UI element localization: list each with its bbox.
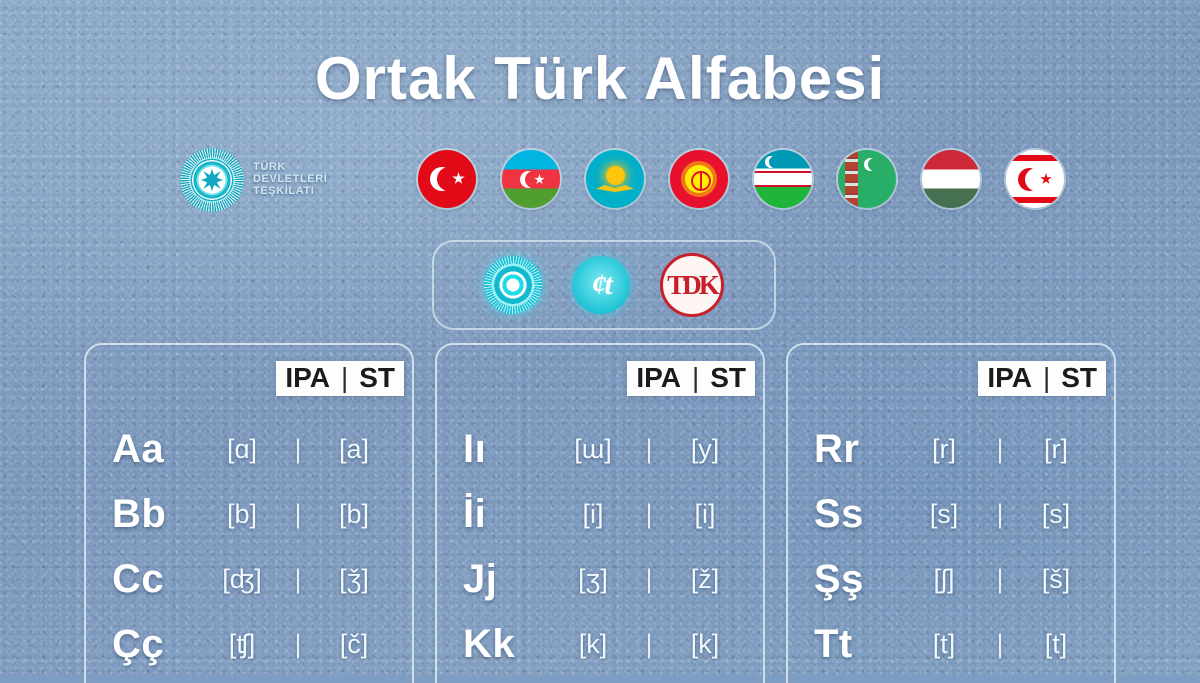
header-ipa-label: IPA [636, 364, 681, 392]
phonetic-cell: [i] | [i] [547, 499, 763, 530]
org-name-line-3: TEŞKİLATI [253, 186, 327, 198]
table-row[interactable]: Rr [r] | [r] [788, 417, 1114, 482]
ipa-value: [s] [898, 499, 990, 530]
crescent-icon [520, 171, 537, 188]
cell-separator: | [288, 434, 308, 465]
ipa-value: [ʃ] [898, 564, 990, 595]
st-value: [č] [308, 629, 400, 660]
sun-icon [606, 166, 625, 185]
st-value: [y] [659, 434, 751, 465]
alphabet-column-2: IPA | ST Iı [ɯ] | [y] İi [i] | [435, 343, 765, 683]
st-value: [s] [1010, 499, 1102, 530]
st-value: [b] [308, 499, 400, 530]
phonetic-cell: [ɯ] | [y] [547, 434, 763, 465]
flag-hungary[interactable] [922, 150, 980, 208]
table-row[interactable]: Kk [k] | [k] [437, 612, 763, 677]
header-ipa-label: IPA [285, 364, 330, 392]
page-title: Ortak Türk Alfabesi [0, 44, 1200, 113]
ipa-value: [ʤ] [196, 564, 288, 595]
organization-flag-row: TÜRK DEVLETLERİ TEŞKİLATI [0, 148, 1200, 224]
turkic-states-emblem-icon [180, 148, 244, 212]
eagle-icon [596, 185, 634, 192]
table-row[interactable]: Bb [b] | [b] [86, 482, 412, 547]
letter-cell: Şş [788, 557, 898, 602]
org-emblem-2-icon[interactable]: ȼt [572, 256, 630, 314]
flag-azerbaijan[interactable] [502, 150, 560, 208]
letter-cell: Ss [788, 492, 898, 537]
header-separator: | [692, 364, 699, 392]
cell-separator: | [639, 564, 659, 595]
table-row[interactable]: Jj [ʒ] | [ž] [437, 547, 763, 612]
table-row[interactable]: Çç [ʧ] | [č] [86, 612, 412, 677]
cell-separator: | [639, 499, 659, 530]
phonetic-cell: [ʃ] | [š] [898, 564, 1114, 595]
column-header-2: IPA | ST [627, 361, 755, 396]
phonetic-cell: [b] | [b] [196, 499, 412, 530]
letter-cell: Çç [86, 622, 196, 667]
ipa-value: [ʒ] [547, 564, 639, 595]
table-row[interactable]: İi [i] | [i] [437, 482, 763, 547]
ipa-value: [k] [547, 629, 639, 660]
phonetic-cell: [ʤ] | [ǯ] [196, 564, 412, 595]
letter-cell: Jj [437, 557, 547, 602]
column-header-1: IPA | ST [276, 361, 404, 396]
table-row[interactable]: Cc [ʤ] | [ǯ] [86, 547, 412, 612]
cell-separator: | [990, 434, 1010, 465]
letter-cell: Kk [437, 622, 547, 667]
ipa-value: [t] [898, 629, 990, 660]
table-row[interactable]: Şş [ʃ] | [š] [788, 547, 1114, 612]
ipa-value: [ɑ] [196, 434, 288, 465]
cell-separator: | [639, 629, 659, 660]
header-st-label: ST [359, 364, 395, 392]
column-2-rows: Iı [ɯ] | [y] İi [i] | [i] Jj [437, 417, 763, 677]
crescent-icon [430, 167, 454, 191]
letter-cell: Bb [86, 492, 196, 537]
org-emblem-3-glyph: TDK [667, 272, 717, 299]
letter-cell: Cc [86, 557, 196, 602]
alphabet-table: IPA | ST Aa [ɑ] | [a] Bb [b] | [84, 343, 1116, 683]
red-stripe-bottom [1006, 197, 1064, 203]
partner-organizations: ȼt TDK [432, 240, 776, 330]
crescent-icon [765, 156, 777, 168]
st-value: [i] [659, 499, 751, 530]
st-value: [š] [1010, 564, 1102, 595]
eight-pointed-star-icon [201, 169, 223, 191]
header-st-label: ST [710, 364, 746, 392]
tunduk-icon [691, 171, 711, 191]
flag-uzbekistan[interactable] [754, 150, 812, 208]
org-emblem-1-icon[interactable] [484, 256, 542, 314]
carpet-stripe-icon [845, 150, 858, 208]
ipa-value: [r] [898, 434, 990, 465]
phonetic-cell: [ɑ] | [a] [196, 434, 412, 465]
column-3-rows: Rr [r] | [r] Ss [s] | [s] Şş [788, 417, 1114, 677]
crescent-icon [1018, 168, 1041, 191]
st-value: [t] [1010, 629, 1102, 660]
flag-turkey[interactable] [418, 150, 476, 208]
st-value: [a] [308, 434, 400, 465]
alphabet-column-1: IPA | ST Aa [ɑ] | [a] Bb [b] | [84, 343, 414, 683]
phonetic-cell: [ʧ] | [č] [196, 629, 412, 660]
cell-separator: | [990, 629, 1010, 660]
cell-separator: | [990, 564, 1010, 595]
letter-cell: Tt [788, 622, 898, 667]
st-value: [k] [659, 629, 751, 660]
flag-kazakhstan[interactable] [586, 150, 644, 208]
header-ipa-label: IPA [987, 364, 1032, 392]
table-row[interactable]: Ss [s] | [s] [788, 482, 1114, 547]
letter-cell: İi [437, 492, 547, 537]
column-1-rows: Aa [ɑ] | [a] Bb [b] | [b] Cc [86, 417, 412, 677]
flag-turkmenistan[interactable] [838, 150, 896, 208]
ipa-value: [ʧ] [196, 629, 288, 660]
org-emblem-2-glyph: ȼt [591, 268, 610, 302]
flag-kyrgyzstan[interactable] [670, 150, 728, 208]
flag-northern-cyprus[interactable] [1006, 150, 1064, 208]
turkic-states-logo[interactable]: TÜRK DEVLETLERİ TEŞKİLATI [180, 148, 327, 212]
org-emblem-3-icon[interactable]: TDK [660, 253, 724, 317]
st-value: [ž] [659, 564, 751, 595]
table-row[interactable]: Tt [t] | [t] [788, 612, 1114, 677]
red-stripe-top [1006, 155, 1064, 161]
table-row[interactable]: Iı [ɯ] | [y] [437, 417, 763, 482]
organization-name: TÜRK DEVLETLERİ TEŞKİLATI [253, 162, 327, 198]
phonetic-cell: [r] | [r] [898, 434, 1114, 465]
ipa-value: [b] [196, 499, 288, 530]
letter-cell: Iı [437, 427, 547, 472]
member-flags [418, 150, 1064, 208]
st-value: [r] [1010, 434, 1102, 465]
header-separator: | [1043, 364, 1050, 392]
crescent-icon [864, 158, 877, 171]
letter-cell: Rr [788, 427, 898, 472]
phonetic-cell: [s] | [s] [898, 499, 1114, 530]
cell-separator: | [288, 629, 308, 660]
cell-separator: | [990, 499, 1010, 530]
header-st-label: ST [1061, 364, 1097, 392]
column-header-3: IPA | ST [978, 361, 1106, 396]
phonetic-cell: [k] | [k] [547, 629, 763, 660]
ipa-value: [i] [547, 499, 639, 530]
cell-separator: | [288, 499, 308, 530]
st-value: [ǯ] [308, 564, 400, 595]
cell-separator: | [288, 564, 308, 595]
cell-separator: | [639, 434, 659, 465]
table-row[interactable]: Aa [ɑ] | [a] [86, 417, 412, 482]
letter-cell: Aa [86, 427, 196, 472]
phonetic-cell: [ʒ] | [ž] [547, 564, 763, 595]
alphabet-column-3: IPA | ST Rr [r] | [r] Ss [s] | [786, 343, 1116, 683]
ipa-value: [ɯ] [547, 434, 639, 465]
header-separator: | [341, 364, 348, 392]
phonetic-cell: [t] | [t] [898, 629, 1114, 660]
